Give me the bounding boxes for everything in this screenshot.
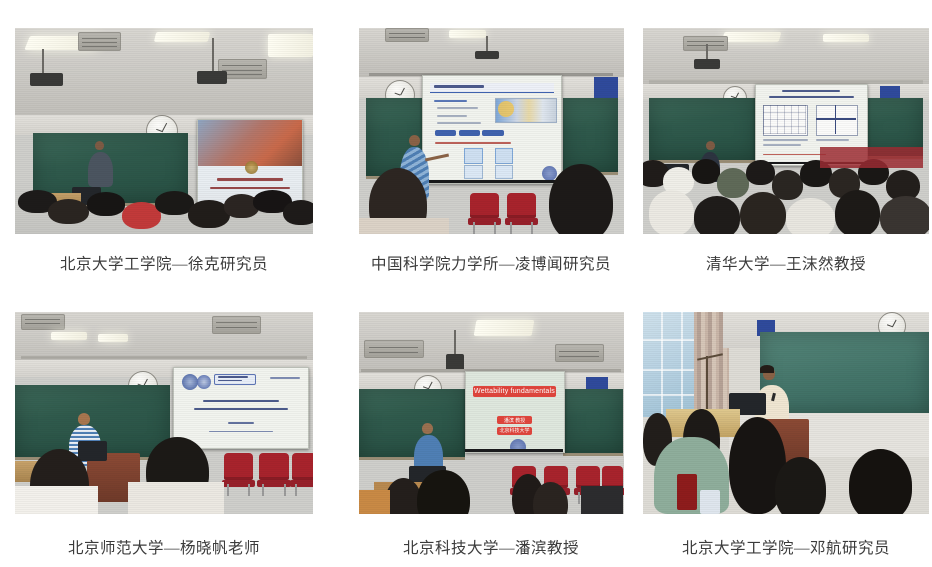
- photo-caption: 北京师范大学—杨晓帆老师: [68, 536, 260, 558]
- ceiling-vent-icon: [555, 344, 605, 362]
- lecture-hall-photo-yangxiaofan: [15, 312, 313, 514]
- projection-screen: [422, 75, 562, 184]
- photo-caption: 北京大学工学院—邓航研究员: [682, 536, 890, 558]
- gallery-row-1: 北京大学工学院—徐克研究员: [0, 0, 932, 274]
- window-icon: [643, 312, 700, 417]
- gallery-cell-3: 清华大学—王沫然教授: [640, 28, 932, 274]
- photo-caption: 北京大学工学院—徐克研究员: [60, 252, 268, 274]
- gallery-cell-4: 北京师范大学—杨晓帆老师: [0, 312, 320, 558]
- gallery-cell-1: 北京大学工学院—徐克研究员: [0, 28, 320, 274]
- projector-icon: [30, 73, 63, 85]
- photo-caption: 北京科技大学—潘滨教授: [403, 536, 579, 558]
- slide-subtitle-1: 潘滨 教授: [497, 416, 532, 424]
- lecture-hall-photo-wangmoran: [643, 28, 929, 234]
- ceiling-vent-icon: [78, 32, 122, 50]
- lecture-hall-photo-xuke: [15, 28, 313, 234]
- photo-caption: 中国科学院力学所—凌博闻研究员: [371, 252, 611, 274]
- slide-title-banner: Wettability fundamentals: [473, 386, 555, 397]
- ceiling-vent-icon: [21, 314, 65, 330]
- gallery-cell-5: Wettability fundamentals 潘滨 教授 北京科技大学: [320, 312, 640, 558]
- gallery-cell-6: 北京大学工学院—邓航研究员: [640, 312, 932, 558]
- ceiling-vent-icon: [212, 316, 262, 334]
- gallery-cell-2: 中国科学院力学所—凌博闻研究员: [320, 28, 640, 274]
- lecture-hall-photo-denghang: [643, 312, 929, 514]
- gallery-row-2: 北京师范大学—杨晓帆老师: [0, 274, 932, 558]
- ceiling-vent-icon: [364, 340, 424, 358]
- photo-caption: 清华大学—王沫然教授: [706, 252, 866, 274]
- lecture-hall-photo-lingbowen: [359, 28, 624, 234]
- slide-subtitle-2: 北京科技大学: [497, 427, 532, 435]
- projection-screen: [173, 367, 309, 450]
- photo-gallery: 北京大学工学院—徐克研究员: [0, 0, 932, 567]
- projection-screen: Wettability fundamentals 潘滨 教授 北京科技大学: [465, 371, 565, 454]
- projector-icon: [694, 59, 720, 69]
- wall-sign-icon: [594, 77, 618, 98]
- lecture-hall-photo-panbin: Wettability fundamentals 潘滨 教授 北京科技大学: [359, 312, 624, 514]
- projector-icon: [197, 71, 227, 83]
- projector-icon: [475, 51, 499, 59]
- ceiling-vent-icon: [385, 28, 429, 42]
